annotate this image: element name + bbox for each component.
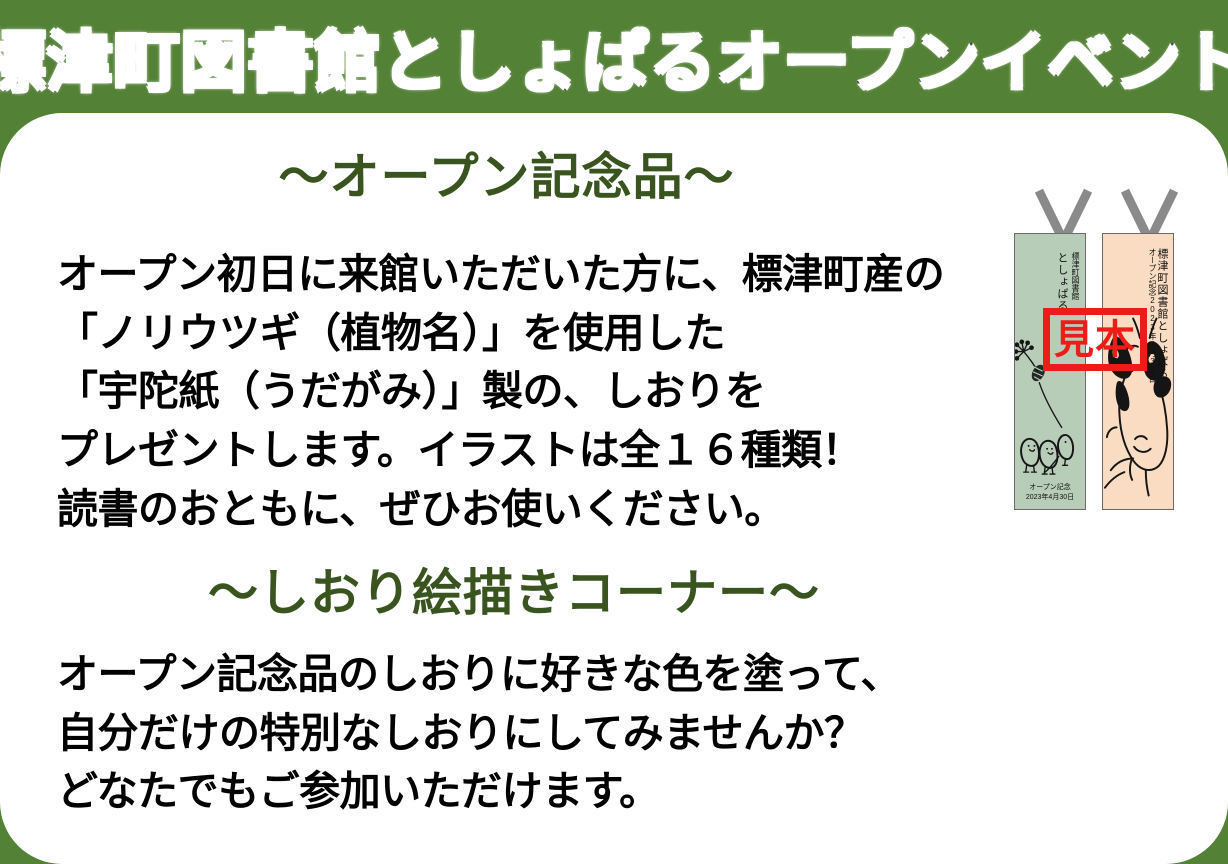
body-line: 「ノリウツギ（植物名）」を使用した bbox=[57, 304, 944, 363]
body-line: 読書のおともに、ぜひお使いください。 bbox=[57, 480, 944, 539]
bookmark-left-footer-line2: 2023年4月30日 bbox=[1015, 493, 1085, 502]
bookmark-right-name-text: 標津町図書館としょぱる bbox=[1155, 248, 1168, 380]
body-line: オープン記念品のしおりに好きな色を塗って、 bbox=[57, 645, 901, 704]
body-line: どなたでもご参加いただけます。 bbox=[57, 762, 901, 821]
bookmark-left-footer: オープン記念 2023年4月30日 bbox=[1015, 483, 1085, 502]
bookmark-left: 標津町図書館 としょぱる オープン記念 2023年4月30日 bbox=[1014, 233, 1086, 510]
body-line: 「宇陀紙（うだがみ）」製の、しおりを bbox=[57, 362, 944, 421]
page-title: 標津町図書館としょぱるオープンイベント bbox=[0, 9, 1228, 105]
body-line: プレゼントします。イラストは全１６種類！ bbox=[57, 421, 944, 480]
body-line: 自分だけの特別なしおりにしてみませんか？ bbox=[57, 704, 901, 763]
bookmark-cord-icon bbox=[1032, 185, 1092, 237]
section-heading-drawing: 〜しおり絵描きコーナー〜 bbox=[0, 553, 1228, 625]
section-body-gift: オープン初日に来館いただいた方に、標津町産の 「ノリウツギ（植物名）」を使用した… bbox=[57, 245, 944, 538]
title-band: 標津町図書館としょぱるオープンイベント bbox=[0, 0, 1228, 113]
body-line: オープン初日に来館いただいた方に、標津町産の bbox=[57, 245, 944, 304]
bookmark-right-date-text: オープン記念2023年4月30日 bbox=[1148, 248, 1157, 383]
section-body-drawing: オープン記念品のしおりに好きな色を塗って、 自分だけの特別なしおりにしてみません… bbox=[57, 645, 901, 821]
bookmark-left-org-text: 標津町図書館 bbox=[1071, 252, 1080, 300]
poster: 標津町図書館としょぱるオープンイベント 〜オープン記念品〜 オープン初日に来館い… bbox=[0, 0, 1228, 864]
bookmark-left-footer-line1: オープン記念 bbox=[1015, 483, 1085, 492]
sample-stamp: 見本 bbox=[1043, 308, 1147, 371]
bookmark-right: 標津町図書館としょぱる オープン記念2023年4月30日 bbox=[1102, 233, 1174, 510]
bookmark-left-name-text: としょぱる bbox=[1055, 252, 1068, 312]
bookmark-cord-icon bbox=[1118, 185, 1178, 237]
sample-stamp-text: 見本 bbox=[1054, 320, 1136, 360]
